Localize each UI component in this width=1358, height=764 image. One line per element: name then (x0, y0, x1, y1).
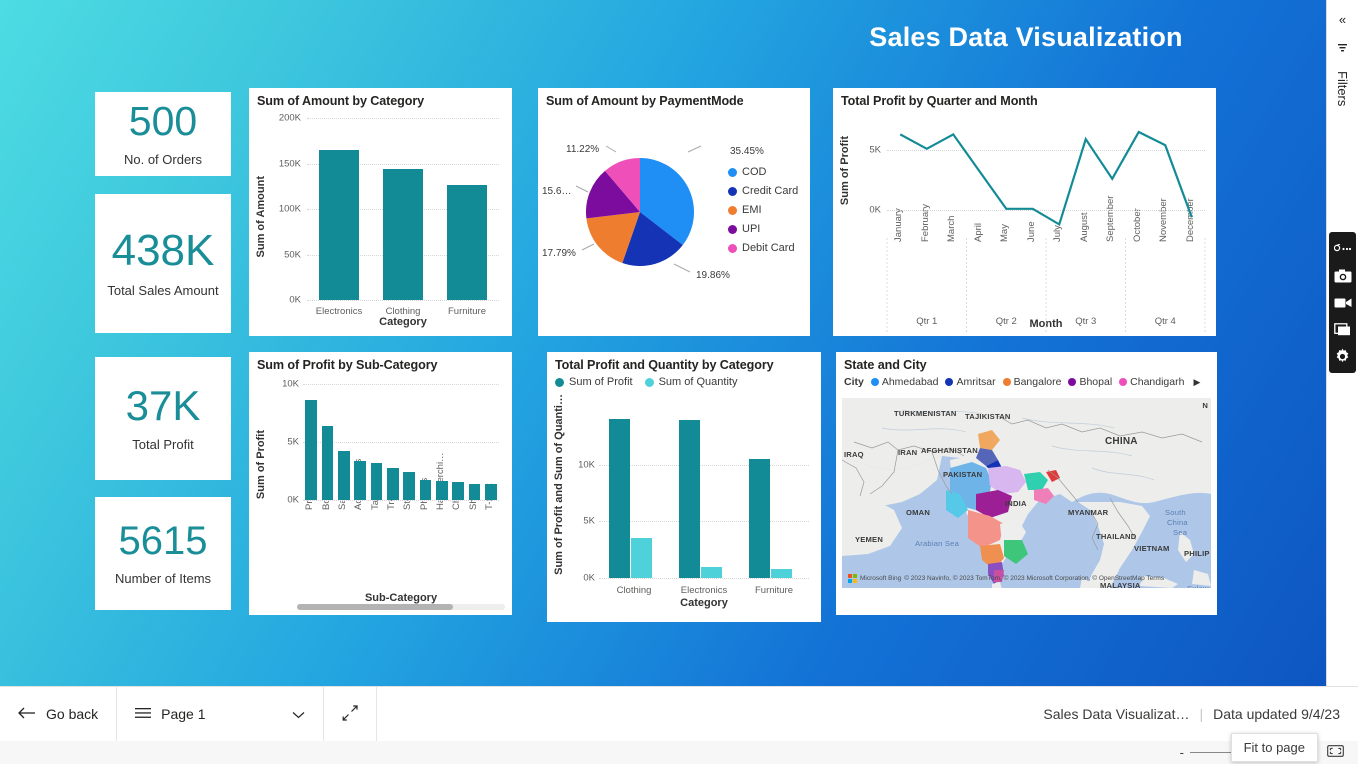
bottom-toolbar: Go back Page 1 Sales Data Visu (0, 686, 1358, 741)
pie-data-label: 19.86% (696, 270, 730, 281)
arrow-left-icon (18, 706, 36, 722)
gridline (303, 500, 499, 501)
kpi-card-total-profit[interactable]: 37K Total Profit (95, 357, 231, 480)
y-tick-label: 100K (267, 204, 301, 215)
pie-data-label: 17.79% (542, 248, 576, 259)
fit-to-page-tooltip: Fit to page (1231, 733, 1318, 762)
map-country-label: YEMEN (855, 535, 883, 544)
legend-label: Chandigarh (1130, 376, 1184, 388)
map-country-label: THAILAND (1096, 532, 1136, 541)
chart-title: Sum of Profit by Sub-Category (249, 352, 512, 372)
bar (436, 481, 448, 500)
map-surface[interactable]: TURKMENISTANTAJIKISTANCHINAIRAQIRANAFGHA… (842, 398, 1211, 588)
legend-color-dot (1119, 378, 1127, 386)
page-title: Sales Data Visualization (836, 22, 1216, 53)
map-provider: Microsoft Bing (860, 575, 901, 582)
bar (403, 472, 415, 500)
y-tick-label: 0K (561, 573, 595, 584)
map-country-label: IRAQ (844, 450, 864, 459)
legend-item[interactable]: Credit Card (728, 185, 798, 197)
bar (383, 169, 423, 300)
more-options-icon[interactable] (1329, 236, 1356, 261)
legend-item[interactable]: Sum of Quantity (645, 376, 738, 388)
map-country-label: PAKISTAN (943, 470, 982, 479)
bar (701, 567, 722, 578)
window-icon[interactable] (1329, 317, 1356, 342)
map-legend-items[interactable]: AhmedabadAmritsarBangaloreBhopalChandiga… (871, 376, 1185, 388)
legend-item[interactable]: Sum of Profit (555, 376, 633, 388)
filter-glyph (1337, 43, 1348, 54)
north-indicator: N (1202, 401, 1208, 410)
pie-slices[interactable] (586, 158, 694, 266)
gridline (599, 521, 809, 522)
kpi-value: 500 (129, 101, 197, 142)
y-tick-label: 5K (561, 516, 595, 527)
chart-title: Sum of Amount by Category (249, 88, 512, 108)
chart-profit-and-quantity-by-category[interactable]: Total Profit and Quantity by Category Su… (547, 352, 821, 622)
chevron-down-icon[interactable] (292, 706, 305, 722)
video-camera-icon[interactable] (1329, 290, 1356, 315)
map-country-label: VIETNAM (1134, 544, 1170, 553)
legend-item[interactable]: Bangalore (1003, 376, 1062, 388)
kpi-value: 37K (126, 385, 201, 427)
filters-label[interactable]: Filters (1335, 71, 1350, 106)
legend-color-dot (728, 187, 737, 196)
legend-color-dot (555, 378, 564, 387)
kpi-card-no-of-orders[interactable]: 500 No. of Orders (95, 92, 231, 176)
bar (771, 569, 792, 578)
kpi-label: Total Sales Amount (107, 283, 218, 298)
pages-icon (135, 706, 151, 722)
pie-legend[interactable]: CODCredit CardEMIUPIDebit Card (728, 166, 798, 261)
kpi-label: No. of Orders (124, 152, 202, 167)
go-back-button[interactable]: Go back (0, 687, 117, 742)
legend-label: Bhopal (1079, 376, 1112, 388)
zoom-out-button[interactable]: - (1180, 745, 1184, 760)
legend-label: UPI (742, 223, 760, 235)
legend-item[interactable]: COD (728, 166, 798, 178)
pie-data-label: 15.6… (542, 186, 571, 197)
chart-title: Sum of Amount by PaymentMode (538, 88, 810, 108)
chart-amount-by-paymentmode[interactable]: Sum of Amount by PaymentMode 35.45%19.86… (538, 88, 810, 336)
y-tick-label: 200K (267, 113, 301, 124)
legend-item[interactable]: EMI (728, 204, 798, 216)
x-axis-title: Category (307, 316, 499, 328)
x-tick-label: Furniture (739, 585, 809, 596)
status-separator: | (1199, 706, 1203, 722)
map-attribution: Microsoft Bing © 2023 Navinfo, © 2023 To… (848, 574, 1164, 583)
kpi-label: Number of Items (115, 571, 211, 586)
bar (679, 420, 700, 578)
legend-item[interactable]: Chandigarh (1119, 376, 1184, 388)
legend-label: Amritsar (956, 376, 995, 388)
status-area: Sales Data Visualizat… | Data updated 9/… (1043, 706, 1358, 722)
map-country-label: TAJIKISTAN (965, 412, 1011, 421)
chevron-right-icon[interactable]: ▶ (1193, 377, 1200, 388)
legend-color-dot (645, 378, 654, 387)
y-tick-label: 0K (267, 295, 301, 306)
gridline (599, 578, 809, 579)
y-tick-label: 0K (265, 495, 299, 506)
pie-graphic[interactable] (586, 158, 694, 266)
y-axis-title: Sum of Amount (255, 176, 267, 257)
go-back-label: Go back (46, 706, 98, 722)
line-path (900, 132, 1192, 224)
map-sea-label: Sulaw (1187, 584, 1209, 588)
map-title: State and City (836, 352, 1217, 372)
gear-icon[interactable] (1329, 344, 1356, 369)
map-attribution-text: © 2023 Navinfo, © 2023 TomTom, © 2023 Mi… (904, 575, 1164, 582)
map-legend-label: City (844, 376, 864, 388)
report-name: Sales Data Visualizat… (1043, 706, 1189, 722)
legend-item[interactable]: Ahmedabad (871, 376, 939, 388)
map-country-label: PHILIP (1184, 549, 1210, 558)
bar (447, 185, 487, 300)
legend-label: Bangalore (1014, 376, 1062, 388)
filter-icon[interactable] (1337, 41, 1348, 59)
map-country-label: INDIA (1005, 499, 1027, 508)
map-country-label: OMAN (906, 508, 930, 517)
legend-item[interactable]: Debit Card (728, 242, 798, 254)
bar (354, 461, 366, 500)
kpi-label: Total Profit (132, 437, 193, 452)
horizontal-scrollbar[interactable] (297, 604, 505, 610)
page-selector[interactable]: Page 1 (117, 687, 324, 742)
y-tick-label: 10K (561, 459, 595, 470)
bar (322, 426, 334, 500)
kpi-value: 5615 (119, 521, 208, 561)
x-axis-title: Sub-Category (303, 592, 499, 604)
bar (338, 451, 350, 500)
map-country-label: CHINA (1105, 436, 1138, 447)
map-state-and-city[interactable]: State and City City AhmedabadAmritsarBan… (836, 352, 1217, 615)
bing-logo-icon (848, 574, 857, 583)
map-sea-label: South (1165, 508, 1186, 517)
y-tick-label: 10K (265, 379, 299, 390)
chart-title: Total Profit and Quantity by Category (547, 352, 821, 372)
gridline (599, 465, 809, 466)
map-legend[interactable]: City AhmedabadAmritsarBangaloreBhopalCha… (836, 372, 1217, 388)
collapse-arrows-icon (342, 705, 358, 724)
bar (485, 484, 497, 500)
gridline (307, 118, 499, 119)
page-label: Page 1 (161, 706, 205, 722)
camera-icon[interactable] (1329, 263, 1356, 288)
legend-color-dot (728, 168, 737, 177)
y-tick-label: 5K (265, 437, 299, 448)
x-tick-label: Electronics (669, 585, 739, 596)
chart-profit-by-subcategory[interactable]: Sum of Profit by Sub-Category Sum of Pro… (249, 352, 512, 615)
legend-label: Debit Card (742, 242, 795, 254)
legend-item[interactable]: Bhopal (1068, 376, 1112, 388)
legend-color-dot (728, 206, 737, 215)
bar (319, 150, 359, 300)
line-series[interactable] (833, 88, 1216, 336)
bar (631, 538, 652, 578)
bar (609, 419, 630, 578)
report-canvas: Sales Data Visualization 500 No. of Orde… (0, 0, 1326, 686)
bar (305, 400, 317, 500)
gridline (307, 300, 499, 301)
legend-color-dot (1068, 378, 1076, 386)
legend-label: EMI (742, 204, 762, 216)
scrollbar-thumb[interactable] (297, 604, 453, 610)
legend-label: Sum of Profit (569, 376, 633, 388)
bar (469, 484, 481, 500)
chart-legend[interactable]: Sum of ProfitSum of Quantity (555, 376, 737, 388)
data-updated-label: Data updated 9/4/23 (1213, 706, 1340, 722)
legend-color-dot (871, 378, 879, 386)
chart-total-profit-by-quarter-and-month[interactable]: Total Profit by Quarter and Month Sum of… (833, 88, 1216, 336)
map-country-label: AFGHANISTAN (921, 446, 978, 455)
map-country-label: TURKMENISTAN (894, 409, 957, 418)
bar (452, 482, 464, 500)
chart-amount-by-category[interactable]: Sum of Amount by Category Sum of Amount … (249, 88, 512, 336)
legend-item[interactable]: Amritsar (945, 376, 995, 388)
map-country-label: IRAN (898, 448, 917, 457)
kpi-value: 438K (112, 229, 215, 273)
focus-mode-button[interactable] (324, 687, 377, 742)
map-sea-label: China (1167, 518, 1188, 527)
legend-item[interactable]: UPI (728, 223, 798, 235)
legend-label: COD (742, 166, 766, 178)
legend-color-dot (728, 225, 737, 234)
bar (749, 459, 770, 578)
bar (371, 463, 383, 500)
bar (420, 480, 432, 500)
map-country-label: MYANMAR (1068, 508, 1108, 517)
pie-data-label: 11.22% (566, 144, 599, 155)
zoom-bar: - Fit to page (0, 741, 1358, 764)
bar (387, 468, 399, 500)
map-graphic (842, 398, 1211, 588)
x-tick-label: Clothing (599, 585, 669, 596)
fit-to-page-button[interactable] (1327, 744, 1344, 762)
map-sea-label: Arabian Sea (915, 539, 959, 548)
kpi-card-total-sales-amount[interactable]: 438K Total Sales Amount (95, 194, 231, 333)
y-axis-title: Sum of Profit and Sum of Quanti… (553, 394, 565, 575)
legend-color-dot (1003, 378, 1011, 386)
legend-label: Credit Card (742, 185, 798, 197)
legend-color-dot (728, 244, 737, 253)
legend-color-dot (945, 378, 953, 386)
collapse-icon[interactable]: « (1339, 12, 1346, 27)
map-sea-label: Sea (1173, 528, 1187, 537)
floating-toolbar[interactable] (1329, 232, 1356, 373)
kpi-card-number-of-items[interactable]: 5615 Number of Items (95, 497, 231, 610)
legend-label: Ahmedabad (882, 376, 939, 388)
gridline (303, 384, 499, 385)
legend-label: Sum of Quantity (659, 376, 738, 388)
y-tick-label: 50K (267, 249, 301, 260)
y-tick-label: 150K (267, 158, 301, 169)
pie-data-label: 35.45% (730, 146, 764, 157)
x-axis-title: Category (599, 597, 809, 609)
